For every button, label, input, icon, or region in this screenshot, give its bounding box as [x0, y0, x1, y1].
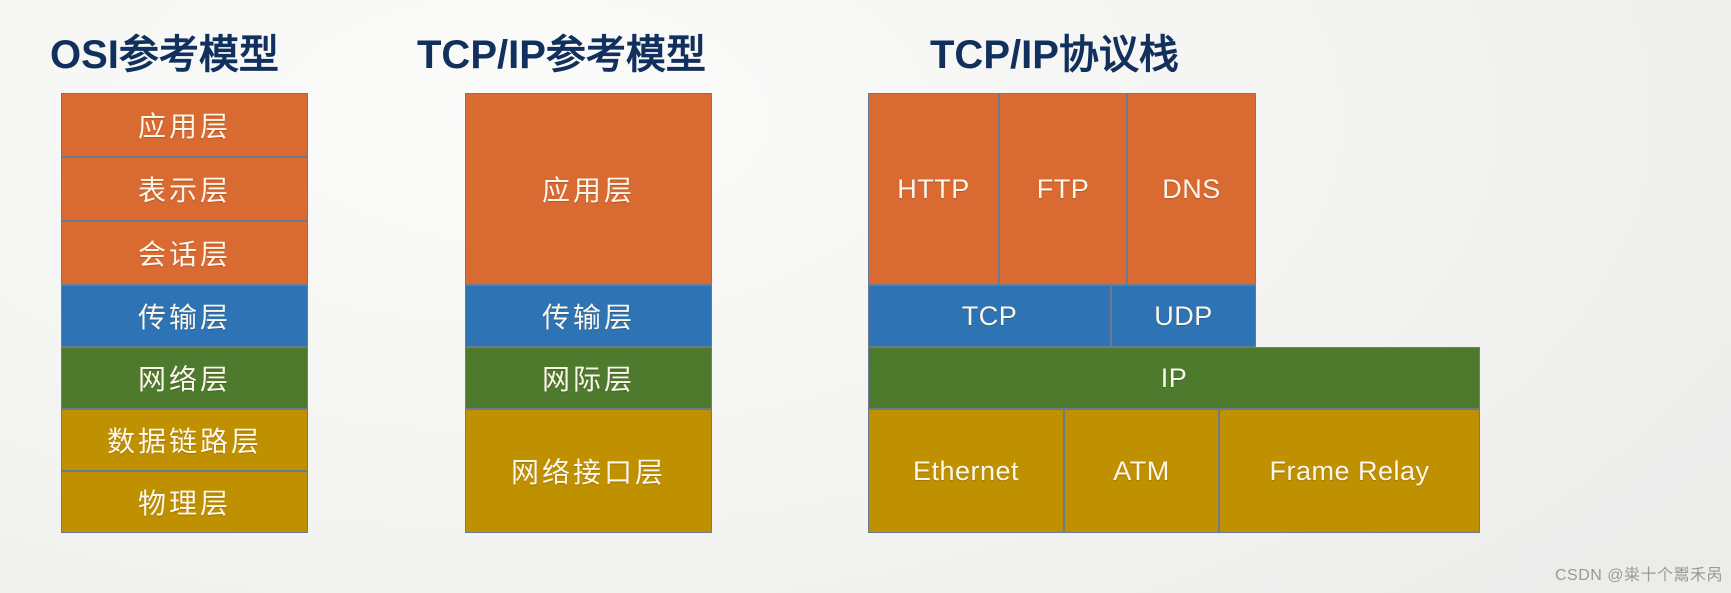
tcpip-stack-title: TCP/IP协议栈 [930, 22, 1179, 80]
tcpip-model-layer-internet: 网际层 [465, 347, 712, 409]
csdn-watermark: CSDN @粜十个鬻禾呙 [1555, 561, 1723, 585]
osi-title: OSI参考模型 [50, 22, 279, 80]
osi-layer-application: 应用层 [61, 93, 308, 157]
stack-cell-udp: UDP [1111, 285, 1256, 347]
osi-layer-session: 会话层 [61, 221, 308, 285]
stack-cell-frame-relay: Frame Relay [1219, 409, 1480, 533]
stack-cell-ethernet: Ethernet [868, 409, 1064, 533]
stack-cell-ftp: FTP [999, 93, 1127, 285]
tcpip-model-layer-transport: 传输层 [465, 285, 712, 347]
stack-cell-atm: ATM [1064, 409, 1219, 533]
stack-cell-dns: DNS [1127, 93, 1256, 285]
stack-cell-tcp: TCP [868, 285, 1111, 347]
tcpip-model-title: TCP/IP参考模型 [417, 22, 706, 80]
tcpip-model-layer-application: 应用层 [465, 93, 712, 285]
osi-layer-network: 网络层 [61, 347, 308, 409]
stack-cell-http: HTTP [868, 93, 999, 285]
tcpip-model-layer-network-interface: 网络接口层 [465, 409, 712, 533]
osi-layer-datalink: 数据链路层 [61, 409, 308, 471]
osi-layer-transport: 传输层 [61, 285, 308, 347]
osi-layer-presentation: 表示层 [61, 157, 308, 221]
stack-cell-ip: IP [868, 347, 1480, 409]
osi-layer-physical: 物理层 [61, 471, 308, 533]
